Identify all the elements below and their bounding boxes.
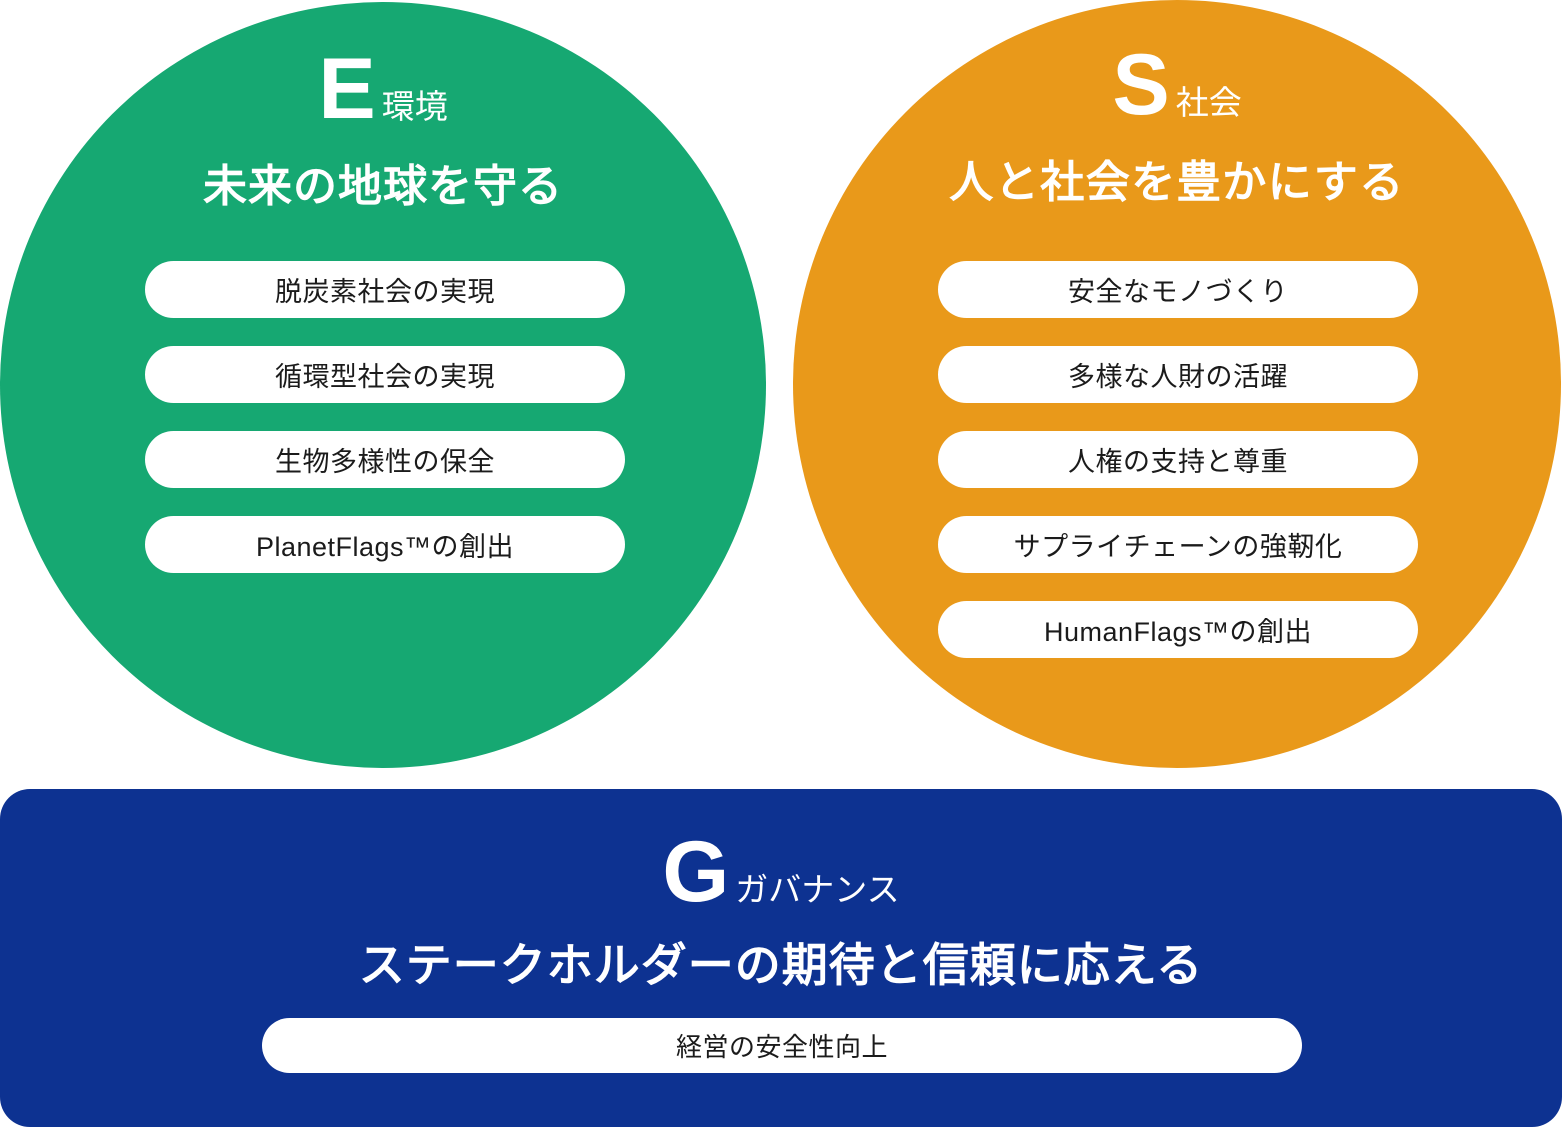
social-letter-line: S社会 — [793, 42, 1561, 128]
governance-letter-label: ガバナンス — [735, 871, 899, 908]
governance-heading: Gガバナンス ステークホルダーの期待と信頼に応える — [0, 829, 1562, 995]
governance-tagline: ステークホルダーの期待と信頼に応える — [0, 929, 1562, 995]
social-item: サプライチェーンの強靭化 — [938, 516, 1418, 573]
environment-letter-line: E環境 — [0, 46, 766, 132]
social-tagline: 人と社会を豊かにする — [793, 146, 1561, 210]
social-letter-label: 社会 — [1176, 84, 1242, 121]
environment-item: 循環型社会の実現 — [145, 346, 625, 403]
social-item-list: 安全なモノづくり 多様な人財の活躍 人権の支持と尊重 サプライチェーンの強靭化 … — [938, 261, 1418, 658]
environment-letter-label: 環境 — [382, 88, 448, 125]
environment-tagline: 未来の地球を守る — [0, 150, 766, 214]
environment-item: 脱炭素社会の実現 — [145, 261, 625, 318]
social-item: 多様な人財の活躍 — [938, 346, 1418, 403]
governance-item: 経営の安全性向上 — [262, 1018, 1302, 1073]
environment-letter: E — [318, 41, 375, 137]
social-letter: S — [1112, 37, 1169, 133]
environment-heading: E環境 未来の地球を守る — [0, 46, 766, 214]
governance-panel: Gガバナンス ステークホルダーの期待と信頼に応える — [0, 789, 1562, 1127]
social-item: 安全なモノづくり — [938, 261, 1418, 318]
esg-diagram: E環境 未来の地球を守る 脱炭素社会の実現 循環型社会の実現 生物多様性の保全 … — [0, 0, 1562, 1127]
social-item: HumanFlags™の創出 — [938, 601, 1418, 658]
environment-item-list: 脱炭素社会の実現 循環型社会の実現 生物多様性の保全 PlanetFlags™の… — [145, 261, 625, 573]
governance-letter: G — [662, 824, 729, 920]
social-item: 人権の支持と尊重 — [938, 431, 1418, 488]
governance-letter-line: Gガバナンス — [0, 829, 1562, 915]
environment-item: PlanetFlags™の創出 — [145, 516, 625, 573]
environment-item: 生物多様性の保全 — [145, 431, 625, 488]
social-heading: S社会 人と社会を豊かにする — [793, 42, 1561, 210]
